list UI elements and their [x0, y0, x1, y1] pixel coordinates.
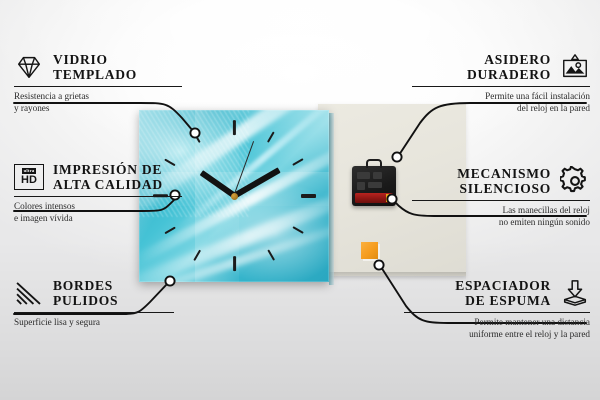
hanging-picture-icon [560, 52, 590, 82]
connector-dot-mecanismo [387, 194, 396, 203]
feature-mecanismo-silencioso: MECANISMO SILENCIOSO Las manecillas del … [412, 166, 590, 228]
feature-description: Resistencia a grietas y rayones [14, 91, 182, 114]
feature-asidero-duradero: ASIDERO DURADERO Permite una fácil insta… [412, 52, 590, 114]
feature-description: Permite mantener una distancia uniforme … [404, 317, 590, 340]
feature-divider [14, 86, 182, 87]
press-down-pad-icon [560, 278, 590, 308]
feature-description: Las manecillas del reloj no emiten ningú… [412, 205, 590, 228]
feature-title: ESPACIADOR DE ESPUMA [455, 278, 551, 308]
feature-impresion-alta-calidad: ultra HD IMPRESIÓN DE ALTA CALIDAD Color… [14, 162, 182, 224]
feature-divider [404, 312, 590, 313]
ultra-hd-badge-top: ultra [22, 168, 37, 174]
feature-divider [412, 200, 590, 201]
diamond-icon [14, 52, 44, 82]
gear-icon [560, 166, 590, 196]
feature-heading: ultra HD IMPRESIÓN DE ALTA CALIDAD [14, 162, 182, 192]
feature-divider [412, 86, 590, 87]
feature-description: Permite una fácil instalación del reloj … [412, 91, 590, 114]
feature-description: Colores intensos e imagen vívida [14, 201, 182, 224]
feature-heading: VIDRIO TEMPLADO [14, 52, 182, 82]
feature-title: MECANISMO SILENCIOSO [457, 166, 551, 196]
connector-dot-vidrio [190, 128, 199, 137]
product-infographic: VIDRIO TEMPLADO Resistencia a grietas y … [0, 0, 600, 400]
ultra-hd-badge-main: HD [21, 175, 37, 186]
feature-heading: BORDES PULIDOS [14, 278, 174, 308]
feature-heading: ASIDERO DURADERO [412, 52, 590, 82]
connector-dot-espaciador [374, 260, 383, 269]
feature-espaciador-de-espuma: ESPACIADOR DE ESPUMA Permite mantener un… [404, 278, 590, 340]
feature-title: ASIDERO DURADERO [467, 52, 551, 82]
feature-heading: ESPACIADOR DE ESPUMA [404, 278, 590, 308]
feature-title: VIDRIO TEMPLADO [53, 52, 137, 82]
polished-edges-icon [14, 278, 44, 308]
feature-divider [14, 312, 174, 313]
feature-bordes-pulidos: BORDES PULIDOS Superficie lisa y segura [14, 278, 174, 329]
feature-heading: MECANISMO SILENCIOSO [412, 166, 590, 196]
feature-description: Superficie lisa y segura [14, 317, 174, 328]
feature-vidrio-templado: VIDRIO TEMPLADO Resistencia a grietas y … [14, 52, 182, 114]
connector-dot-asidero [392, 152, 401, 161]
feature-title: BORDES PULIDOS [53, 278, 118, 308]
ultra-hd-icon: ultra HD [14, 164, 44, 190]
feature-title: IMPRESIÓN DE ALTA CALIDAD [53, 162, 163, 192]
feature-divider [14, 196, 182, 197]
